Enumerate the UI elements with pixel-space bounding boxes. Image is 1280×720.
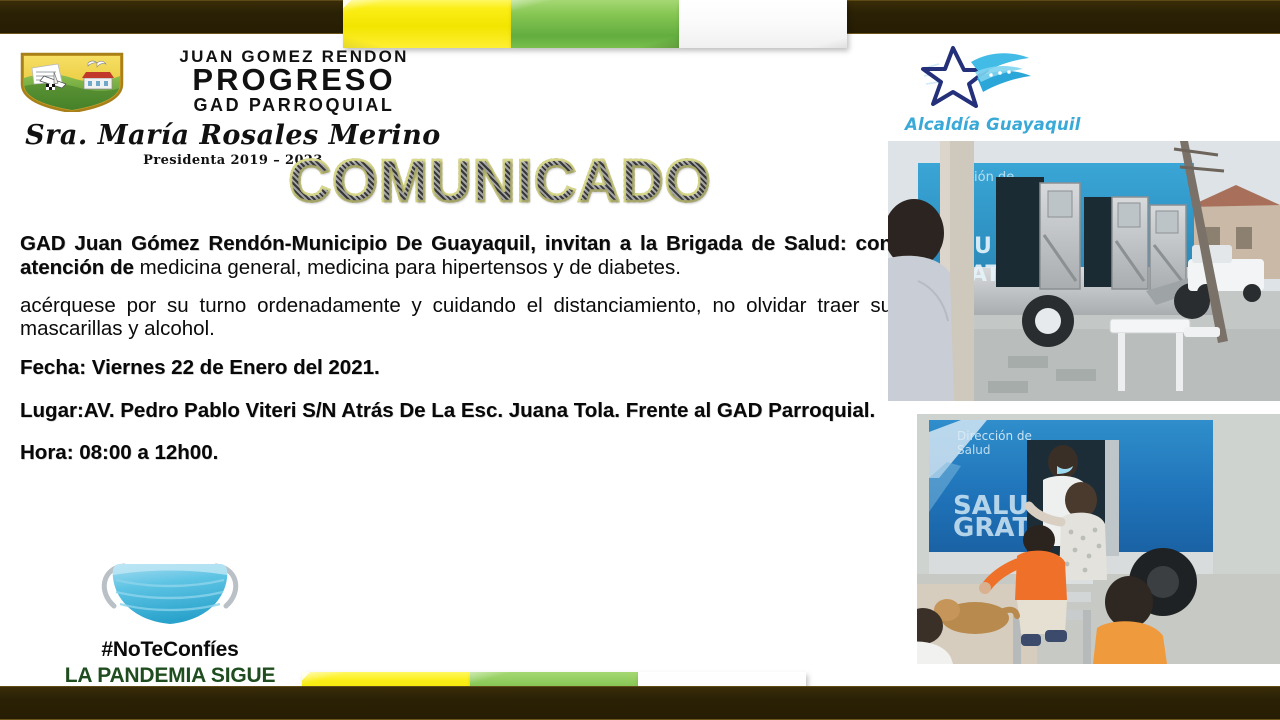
detail-fecha-label: Fecha: [20,356,86,379]
org-line-2: PROGRESO [140,64,448,95]
detail-hora-value: 08:00 a 12h00. [74,441,219,464]
page-title-wrap: COMUNICADO [240,152,760,211]
gad-crest-icon [18,50,126,112]
photo-mobile-health-unit-truck: ión de U AT [888,141,1280,401]
svg-text:U: U [974,234,992,259]
detail-lugar-label: Lugar: [20,399,84,422]
org-line-3: GAD PARROQUIAL [140,96,448,114]
paragraph-instructions: acérquese por su turno ordenadamente y c… [20,294,892,342]
photo-people-boarding-unit: Dirección de Salud SALU GRAT [917,414,1280,664]
detail-lugar-value: AV. Pedro Pablo Viteri S/N Atrás De La E… [84,399,875,422]
campaign-block: #NoTeConfíes LA PANDEMIA SIGUE [55,548,285,688]
president-name: Sra. María Rosales Merino [25,120,441,151]
alcaldia-label: Alcaldía Guayaquil [905,115,1085,134]
detail-fecha: Fecha: Viernes 22 de Enero del 2021. [20,355,892,381]
announcement-body: GAD Juan Gómez Rendón-Municipio De Guaya… [20,232,892,483]
svg-text:Salud: Salud [957,443,991,457]
photo-truck-illustration: ión de U AT [888,141,1280,401]
surgical-mask-icon [90,548,250,634]
color-block-white-top [679,0,847,48]
alcaldia-guayaquil-logo: Alcaldía Guayaquil [905,42,1085,134]
bottom-brown-strip [0,686,1280,720]
paragraph-invitation: GAD Juan Gómez Rendón-Municipio De Guaya… [20,232,892,280]
color-block-green-top [511,0,679,48]
top-color-blocks [343,0,847,48]
detail-hora: Hora: 08:00 a 12h00. [20,440,892,466]
detail-lugar: Lugar:AV. Pedro Pablo Viteri S/N Atrás D… [20,398,892,424]
photo-boarding-illustration: Dirección de Salud SALU GRAT [917,414,1280,664]
campaign-slogan: LA PANDEMIA SIGUE [55,664,285,688]
poster-canvas: JUAN GOMEZ RENDON PROGRESO GAD PARROQUIA… [0,0,1280,720]
svg-text:GRAT: GRAT [953,513,1030,543]
color-block-yellow-top [343,0,511,48]
detail-fecha-value: Viernes 22 de Enero del 2021. [86,356,380,379]
svg-text:AT: AT [970,262,1000,287]
campaign-hashtag: #NoTeConfíes [55,638,285,662]
detail-hora-label: Hora: [20,441,74,464]
svg-text:Dirección de: Dirección de [957,429,1032,443]
alcaldia-star-icon [919,42,1039,114]
page-title: COMUNICADO [240,152,760,211]
paragraph-invitation-rest: medicina general, medicina para hiperten… [140,256,681,279]
